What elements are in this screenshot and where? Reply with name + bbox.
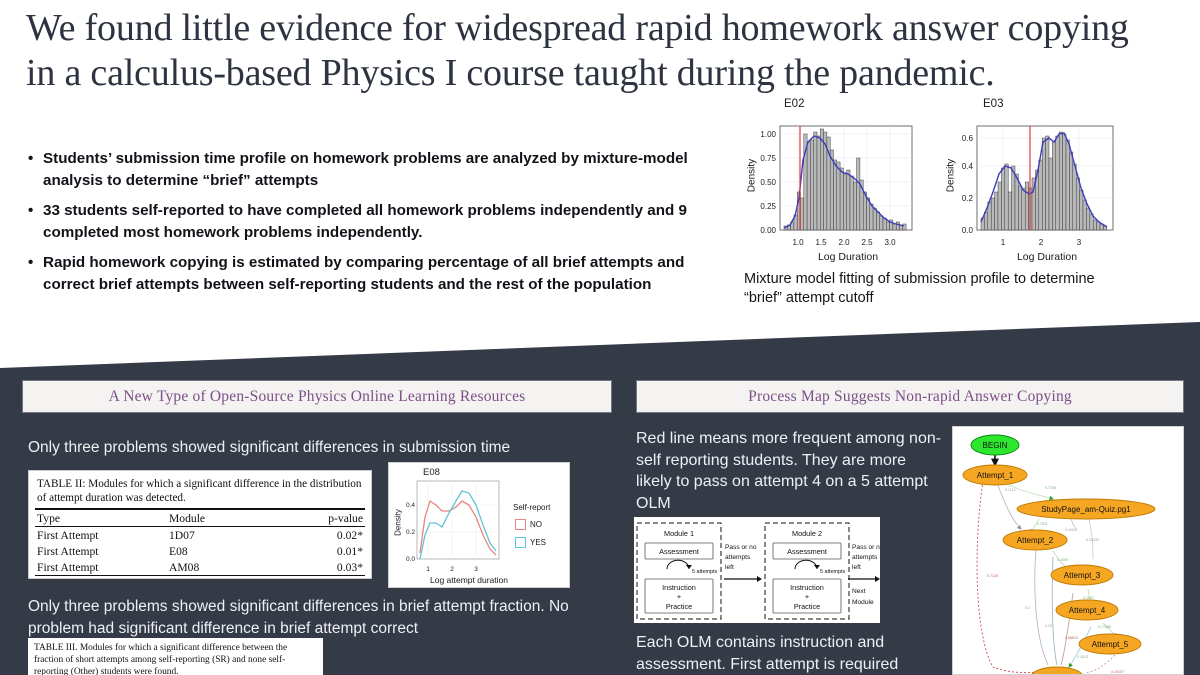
svg-text:0.1013: 0.1013 (1077, 655, 1088, 659)
plot-canvas-e03: 0.0 0.2 0.4 0.6 1 2 3 (937, 112, 1122, 252)
cell-module: E08 (167, 543, 292, 559)
module-2-title: Module 2 (792, 529, 822, 538)
edge-1-label-line1: Pass or no (725, 544, 757, 551)
bullet-marker-icon: • (28, 148, 33, 170)
section-header-left: A New Type of Open-Source Physics Online… (22, 380, 612, 413)
bullet-marker-icon: • (28, 252, 33, 274)
flow-node-attempt-5-label: Attempt_5 (1092, 640, 1129, 649)
col-header-module: Module (167, 509, 292, 527)
module-2-practice-label: Practice (794, 602, 820, 611)
svg-text:0.4: 0.4 (962, 162, 974, 171)
legend-title: Self-report (513, 503, 550, 512)
svg-text:1.5: 1.5 (815, 238, 827, 247)
module-1-plus: + (677, 592, 681, 601)
bullet-list: • Students’ submission time profile on h… (26, 148, 716, 304)
table-row: First Attempt E08 0.01* (35, 543, 365, 559)
table-3: TABLE III. Modules for which a significa… (28, 638, 323, 675)
legend-item-yes: YES (515, 537, 546, 548)
plot-title: E03 (983, 98, 1003, 110)
flow-node-attempt-2-label: Attempt_2 (1017, 536, 1054, 545)
svg-text:0.1002: 0.1002 (1065, 528, 1076, 532)
left-mid-text: Only three problems showed significant d… (28, 596, 628, 640)
plot-canvas-e02: 0.00 0.25 0.50 0.75 1.00 1.0 1.5 2.0 2.5… (738, 112, 923, 252)
svg-text:0.75: 0.75 (760, 154, 776, 163)
table-2: TABLE II: Modules for which a significan… (28, 470, 372, 579)
table-row: First Attempt 1D07 0.02* (35, 527, 365, 544)
bullet-marker-icon: • (28, 200, 33, 222)
section-header-right: Process Map Suggests Non-rapid Answer Co… (636, 380, 1184, 413)
svg-text:0.4: 0.4 (406, 502, 415, 509)
svg-text:0.00: 0.00 (760, 226, 776, 235)
svg-text:0.0: 0.0 (962, 226, 974, 235)
flow-node-begin-label: BEGIN (983, 441, 1008, 450)
poster-slide: We found little evidence for widespread … (0, 0, 1200, 675)
flow-node-attempt-1-label: Attempt_1 (977, 471, 1014, 480)
svg-text:0.1067: 0.1067 (1083, 596, 1094, 600)
legend-swatch-yes-icon (515, 537, 526, 548)
table-2-caption: TABLE II: Modules for which a significan… (35, 475, 365, 508)
svg-text:2.5: 2.5 (861, 238, 873, 247)
x-axis-label: Log Duration (977, 251, 1117, 263)
legend-label-no: NO (530, 520, 542, 529)
edge-1-label-line2: attempts (725, 554, 751, 561)
svg-text:0.66513: 0.66513 (1065, 636, 1078, 640)
svg-text:0.1112: 0.1112 (1005, 488, 1015, 492)
x-axis-label: Log Duration (778, 251, 918, 263)
svg-text:0.25: 0.25 (760, 202, 776, 211)
svg-text:0.1099: 0.1099 (1057, 558, 1068, 562)
cell-module: AM08 (167, 559, 292, 576)
svg-text:1: 1 (1001, 238, 1006, 247)
svg-text:0.2: 0.2 (962, 194, 974, 203)
flow-node-studypage-label: StudyPage_am-Quiz.pg1 (1041, 505, 1131, 514)
cell-pvalue: 0.03* (292, 559, 365, 576)
svg-text:0.0: 0.0 (406, 556, 415, 563)
svg-text:2: 2 (450, 566, 454, 573)
module-2-instruction-label: Instruction (790, 583, 824, 592)
svg-text:0.25: 0.25 (1045, 624, 1052, 628)
svg-text:0.7755: 0.7755 (1045, 486, 1056, 490)
module-2-assessment-label: Assessment (787, 547, 827, 556)
left-lead-text: Only three problems showed significant d… (28, 437, 628, 458)
svg-text:0.33333: 0.33333 (1086, 538, 1099, 542)
cell-module: 1D07 (167, 527, 292, 544)
cell-type: First Attempt (35, 543, 167, 559)
bullet-text: Rapid homework copying is estimated by c… (43, 254, 684, 293)
edge-2-label-line1: Pass or no (852, 544, 880, 551)
bullet-item: • Students’ submission time profile on h… (26, 148, 716, 191)
section-header-right-label: Process Map Suggests Non-rapid Answer Co… (748, 388, 1072, 406)
svg-text:0.2: 0.2 (1025, 606, 1030, 610)
svg-text:0.2: 0.2 (406, 529, 415, 536)
flow-node-attempt-4-label: Attempt_4 (1069, 606, 1106, 615)
module-1-loop-label: 5 attempts (692, 569, 717, 575)
page-title: We found little evidence for widespread … (26, 6, 1166, 96)
module-2-loop-label: 5 attempts (820, 569, 845, 575)
svg-text:2: 2 (1039, 238, 1044, 247)
next-module-label-line2: Module (852, 599, 874, 606)
bullet-text: 33 students self-reported to have comple… (43, 202, 687, 241)
module-1-practice-label: Practice (666, 602, 692, 611)
svg-text:0.7128: 0.7128 (987, 574, 998, 578)
table-2-grid: Type Module p-value First Attempt 1D07 0… (35, 508, 365, 576)
svg-text:3: 3 (1077, 238, 1082, 247)
edge-2-label-line2: attempts (852, 554, 878, 561)
cell-type: First Attempt (35, 559, 167, 576)
svg-text:3.0: 3.0 (884, 238, 896, 247)
cell-pvalue: 0.02* (292, 527, 365, 544)
svg-text:0.50: 0.50 (760, 178, 776, 187)
module-1-title: Module 1 (664, 529, 694, 538)
svg-text:0.6: 0.6 (962, 134, 974, 143)
plot-canvas-e08: 0.0 0.2 0.4 1 2 3 (389, 473, 509, 577)
plot-e02: E02 Density Log Duration 0.00 0.25 0.50 … (738, 98, 923, 263)
module-diagram-canvas: Module 1 Assessment 5 attempts Instructi… (634, 517, 880, 623)
col-header-type: Type (35, 509, 167, 527)
module-1-instruction-label: Instruction (662, 583, 696, 592)
module-1-assessment-label: Assessment (659, 547, 699, 556)
svg-text:1: 1 (426, 566, 430, 573)
table-row: First Attempt AM08 0.03* (35, 559, 365, 576)
svg-text:0.77586: 0.77586 (1098, 625, 1111, 629)
col-header-pvalue: p-value (292, 509, 365, 527)
table-row-header: Type Module p-value (35, 509, 365, 527)
right-foot-text: Each OLM contains instruction and assess… (636, 632, 956, 675)
right-lead-text: Red line means more frequent among non-s… (636, 428, 946, 514)
mixture-model-figure: E02 Density Log Duration 0.00 0.25 0.50 … (738, 98, 1134, 263)
legend-item-no: NO (515, 519, 542, 530)
svg-text:3: 3 (474, 566, 478, 573)
module-2-plus: + (805, 592, 809, 601)
flow-node-attempt-3-label: Attempt_3 (1064, 571, 1101, 580)
legend-label-yes: YES (530, 538, 546, 547)
svg-text:1.0: 1.0 (792, 238, 804, 247)
svg-text:0.10107: 0.10107 (1111, 670, 1124, 674)
svg-text:2.0: 2.0 (838, 238, 850, 247)
plot-title: E02 (784, 98, 804, 110)
svg-text:0.7811: 0.7811 (1037, 522, 1048, 526)
module-process-diagram: Module 1 Assessment 5 attempts Instructi… (634, 517, 880, 623)
plot-e08: E08 Density Log attempt duration 0.0 0.2… (388, 462, 570, 588)
plot-e03: E03 Density Log Duration 0.0 0.2 0.4 0.6… (937, 98, 1122, 263)
section-header-left-label: A New Type of Open-Source Physics Online… (109, 388, 526, 406)
bullet-item: • 33 students self-reported to have comp… (26, 200, 716, 243)
bullet-text: Students’ submission time profile on hom… (43, 150, 688, 189)
edge-1-label-line3: left (725, 564, 734, 571)
bullet-item: • Rapid homework copying is estimated by… (26, 252, 716, 295)
flowchart-canvas: 0.7755 0.7811 0.1099 0.1067 0.77586 0.10… (953, 427, 1184, 675)
figure-caption: Mixture model fitting of submission prof… (744, 270, 1124, 308)
legend-swatch-no-icon (515, 519, 526, 530)
edge-2-label-line3: left (852, 564, 861, 571)
next-module-label-line1: Next (852, 588, 866, 595)
cell-pvalue: 0.01* (292, 543, 365, 559)
table-3-caption: TABLE III. Modules for which a significa… (34, 642, 317, 675)
cell-type: First Attempt (35, 527, 167, 544)
process-map-flowchart: 0.7755 0.7811 0.1099 0.1067 0.77586 0.10… (952, 426, 1184, 675)
svg-text:1.00: 1.00 (760, 130, 776, 139)
